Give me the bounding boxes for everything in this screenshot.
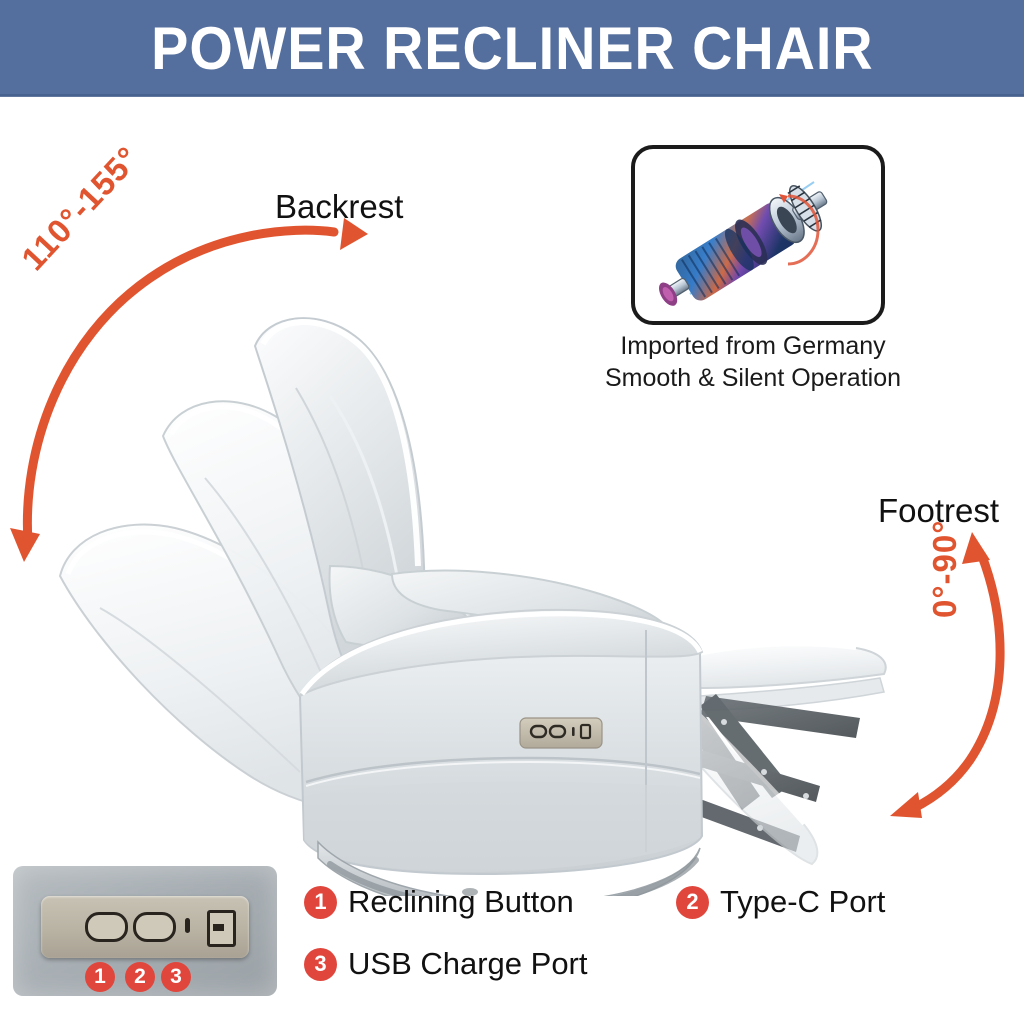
footrest-angle-label: 0°-90° <box>926 520 964 618</box>
motor-caption-line-2: Smooth & Silent Operation <box>578 362 928 394</box>
recline-button-oval-1[interactable] <box>85 912 128 942</box>
legend-badge-2: 2 <box>676 886 709 919</box>
panel-marker-2: 2 <box>125 962 155 992</box>
motor-image-box <box>631 145 885 325</box>
panel-marker-1: 1 <box>85 962 115 992</box>
header-banner: POWER RECLINER CHAIR <box>0 0 1024 96</box>
recline-button-oval-2[interactable] <box>133 912 176 942</box>
legend-badge-1: 1 <box>304 886 337 919</box>
electric-motor-icon <box>638 152 878 318</box>
armrest-control-panel[interactable] <box>520 718 602 748</box>
legend-item-type-c-port: 2 Type-C Port <box>676 884 885 920</box>
control-panel-closeup: 1 2 3 <box>13 866 277 996</box>
usb-a-port-icon[interactable] <box>207 910 236 947</box>
legend: 1 Reclining Button 2 Type-C Port 3 USB C… <box>300 884 1024 1004</box>
type-c-port-icon[interactable] <box>185 918 190 933</box>
product-infographic: POWER RECLINER CHAIR <box>0 0 1024 1024</box>
legend-item-usb-charge-port: 3 USB Charge Port <box>304 946 588 982</box>
legend-label-2: Type-C Port <box>720 884 885 920</box>
legend-item-reclining-button: 1 Reclining Button <box>304 884 574 920</box>
chair-side-body <box>300 610 702 874</box>
panel-marker-3: 3 <box>161 962 191 992</box>
motor-caption: Imported from Germany Smooth & Silent Op… <box>578 330 928 394</box>
legend-label-3: USB Charge Port <box>348 946 588 982</box>
page-title: POWER RECLINER CHAIR <box>151 14 873 83</box>
backrest-label: Backrest <box>275 188 403 226</box>
legend-label-1: Reclining Button <box>348 884 574 920</box>
motor-caption-line-1: Imported from Germany <box>578 330 928 362</box>
legend-badge-3: 3 <box>304 948 337 981</box>
control-panel-strip <box>41 896 249 958</box>
